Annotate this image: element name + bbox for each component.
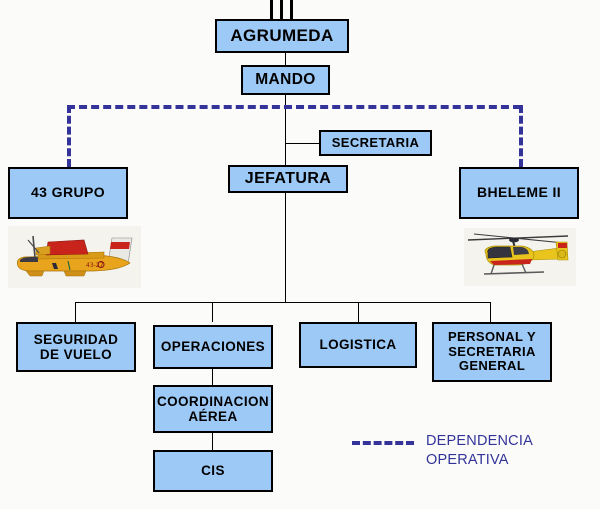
connector-operaciones-coordinacion	[212, 369, 213, 385]
canadair-water-bomber-photo: 43-27	[8, 226, 141, 288]
connector-to-operaciones	[212, 302, 213, 322]
connector-agrumeda-mando	[285, 53, 286, 65]
antenna-stub-icon	[270, 0, 273, 19]
connector-jefatura-trunk	[285, 193, 286, 302]
node-bheleme-ii[interactable]: BHELEME II	[459, 167, 579, 219]
dashed-line-swatch-icon	[352, 441, 414, 445]
eurocopter-ec135-photo	[464, 228, 576, 286]
distribution-bar	[75, 302, 491, 303]
dashed-link-bus	[67, 105, 521, 109]
node-secretaria[interactable]: SECRETARIA	[319, 130, 432, 156]
connector-to-seguridad-vuelo	[75, 302, 76, 322]
node-coordinacion-aerea[interactable]: COORDINACION AÉREA	[153, 385, 273, 433]
node-agrumeda[interactable]: AGRUMEDA	[215, 19, 349, 53]
antenna-stub-icon	[290, 0, 293, 19]
legend-label: DEPENDENCIA OPERATIVA	[426, 432, 533, 469]
dashed-link-to-43-grupo	[67, 105, 71, 167]
legend: DEPENDENCIA OPERATIVA	[352, 432, 572, 469]
node-mando[interactable]: MANDO	[241, 65, 330, 95]
node-operaciones[interactable]: OPERACIONES	[153, 325, 273, 369]
node-personal-secretaria-general[interactable]: PERSONAL Y SECRETARIA GENERAL	[432, 322, 552, 382]
org-chart: AGRUMEDA MANDO SECRETARIA JEFATURA 43 GR…	[0, 0, 600, 509]
node-43-grupo[interactable]: 43 GRUPO	[8, 167, 128, 219]
connector-to-personal	[490, 302, 491, 322]
node-cis[interactable]: CIS	[153, 450, 273, 492]
connector-coordinacion-cis	[212, 433, 213, 450]
connector-to-logistica	[358, 302, 359, 322]
dashed-link-to-bheleme	[519, 105, 523, 167]
node-logistica[interactable]: LOGISTICA	[299, 322, 417, 368]
antenna-stub-icon	[280, 0, 283, 19]
node-seguridad-de-vuelo[interactable]: SEGURIDAD DE VUELO	[16, 322, 136, 372]
connector-jefatura-secretaria	[285, 143, 319, 144]
node-jefatura[interactable]: JEFATURA	[228, 165, 348, 193]
